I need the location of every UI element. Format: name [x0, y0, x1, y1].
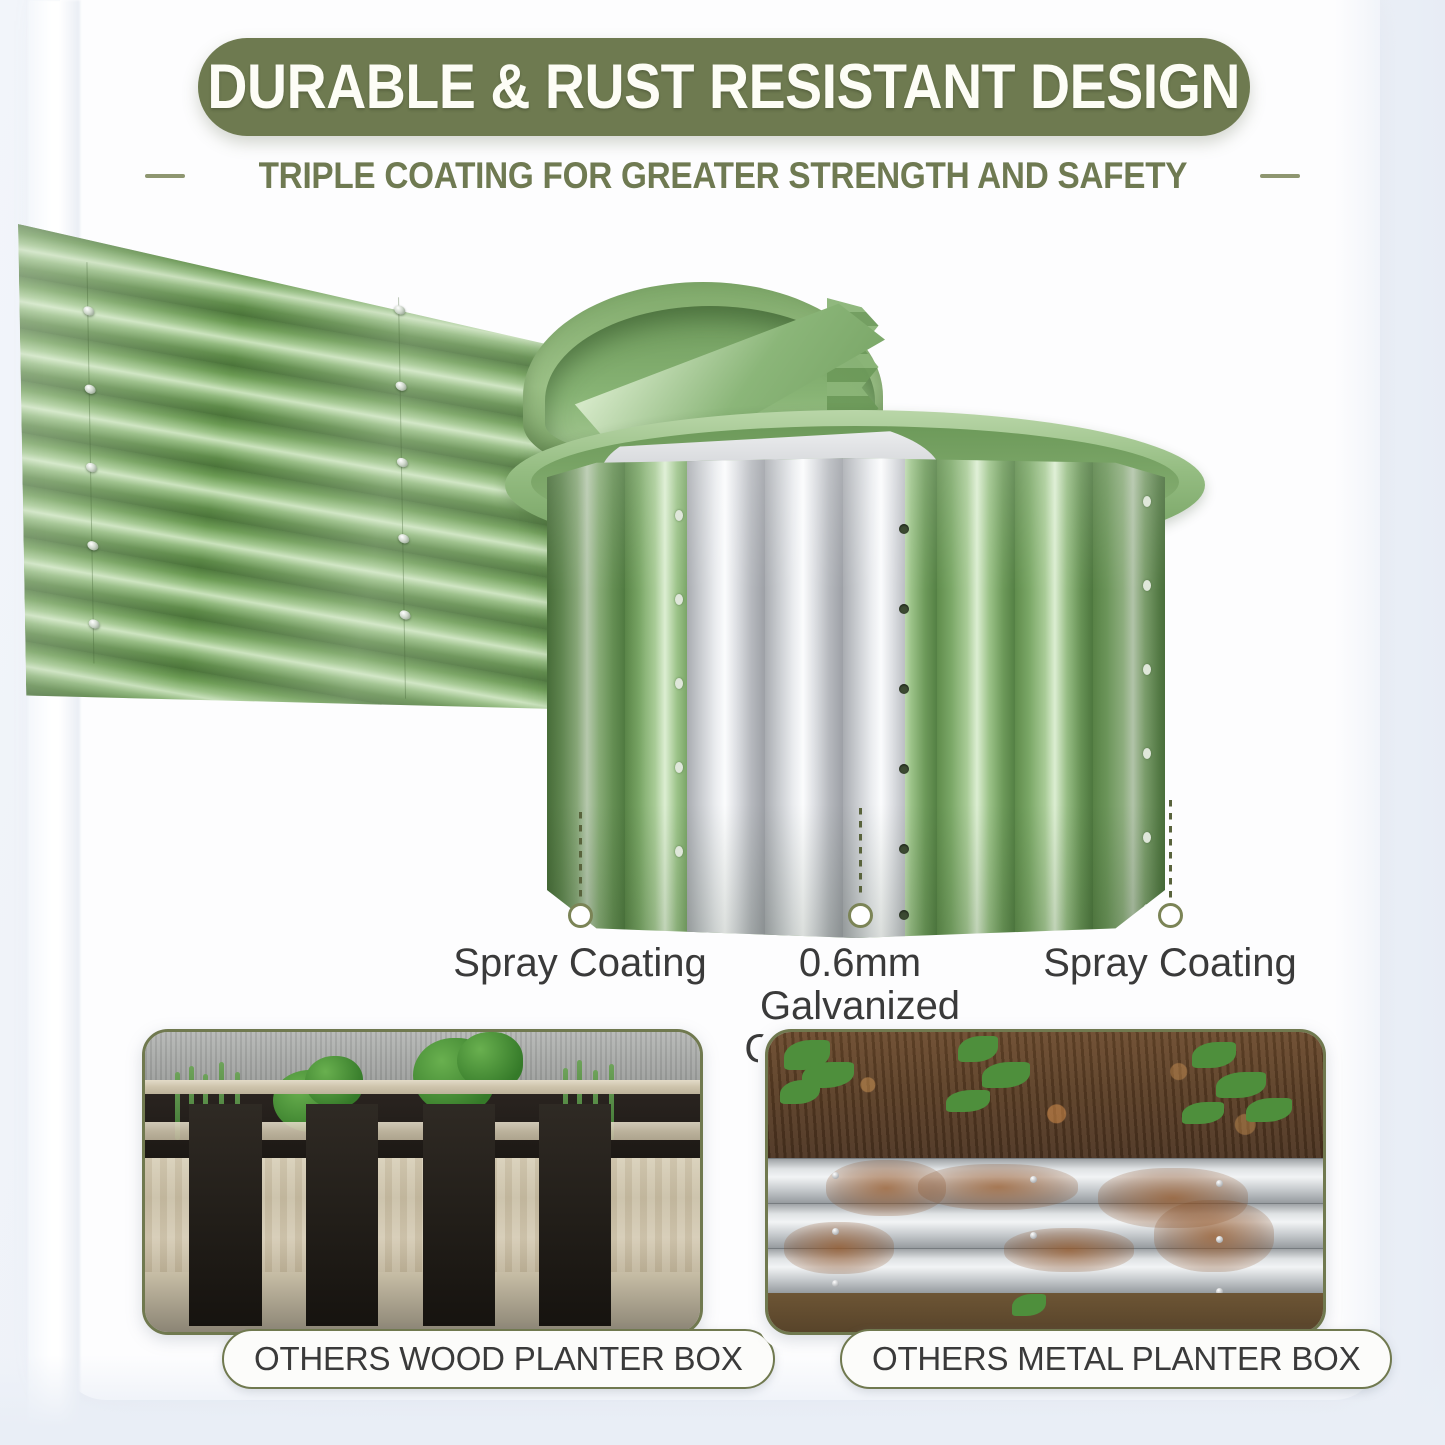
rust-stain [1004, 1228, 1134, 1272]
metal-photo-tag: OTHERS METAL PLANTER BOX [840, 1329, 1392, 1389]
rivet-icon [832, 1172, 839, 1179]
callout-label: Spray Coating [1043, 942, 1296, 985]
callout-marker-icon [1158, 903, 1183, 928]
subheadline-text: TRIPLE COATING FOR GREATER STRENGTH AND … [258, 155, 1187, 197]
bolt-hole-icon [899, 604, 909, 614]
frame-gap [539, 1104, 611, 1326]
headline-text: DURABLE & RUST RESISTANT DESIGN [208, 51, 1241, 123]
product-infographic: DURABLE & RUST RESISTANT DESIGN TRIPLE C… [0, 0, 1445, 1445]
rivet-icon [832, 1228, 839, 1235]
edge-hole-icon [675, 762, 683, 773]
frame-gap [189, 1104, 261, 1326]
callout-spray-coating-right: Spray Coating [1040, 800, 1300, 985]
side-panel-gloss [18, 224, 586, 795]
bolt-hole-icon [899, 684, 909, 694]
edge-hole-icon [1143, 664, 1151, 675]
wood-photo-pad [135, 1022, 718, 1350]
headline-banner: DURABLE & RUST RESISTANT DESIGN [198, 38, 1250, 136]
wood-planter-photo [142, 1029, 703, 1335]
callout-label: Spray Coating [453, 942, 706, 985]
frame-gap [423, 1104, 495, 1326]
frame-gap [306, 1104, 378, 1326]
dash-right-icon [1260, 174, 1300, 178]
leader-line [579, 812, 582, 898]
metal-photo-tag-text: OTHERS METAL PLANTER BOX [872, 1340, 1360, 1378]
callout-spray-coating-left: Spray Coating [465, 812, 695, 985]
dash-left-icon [145, 174, 185, 178]
bolt-hole-icon [899, 524, 909, 534]
callout-marker-icon [848, 903, 873, 928]
metal-photo-pad [758, 1022, 1341, 1350]
photo-soil [768, 1032, 1323, 1164]
rivet-icon [1030, 1176, 1037, 1183]
wood-photo-tag-text: OTHERS WOOD PLANTER BOX [254, 1340, 743, 1378]
edge-hole-icon [1143, 580, 1151, 591]
edge-hole-icon [675, 510, 683, 521]
leader-line [859, 808, 862, 898]
corrugated-side-panel [18, 224, 586, 795]
rivet-icon [1216, 1236, 1223, 1243]
rust-stain [1154, 1200, 1274, 1272]
rust-stain [918, 1164, 1078, 1210]
edge-hole-icon [675, 594, 683, 605]
leader-line [1169, 800, 1172, 898]
planter-top-rail [145, 1080, 700, 1094]
rivet-icon [1030, 1232, 1037, 1239]
bolt-hole-icon [899, 764, 909, 774]
wood-photo-tag: OTHERS WOOD PLANTER BOX [222, 1329, 775, 1389]
rust-stain [784, 1222, 894, 1274]
edge-hole-icon [1143, 748, 1151, 759]
rivet-icon [1216, 1180, 1223, 1187]
callout-marker-icon [568, 903, 593, 928]
metal-planter-photo [765, 1029, 1326, 1335]
rivet-icon [832, 1280, 839, 1287]
edge-hole-icon [1143, 496, 1151, 507]
edge-hole-icon [675, 678, 683, 689]
background-right-fade [1335, 0, 1445, 1445]
